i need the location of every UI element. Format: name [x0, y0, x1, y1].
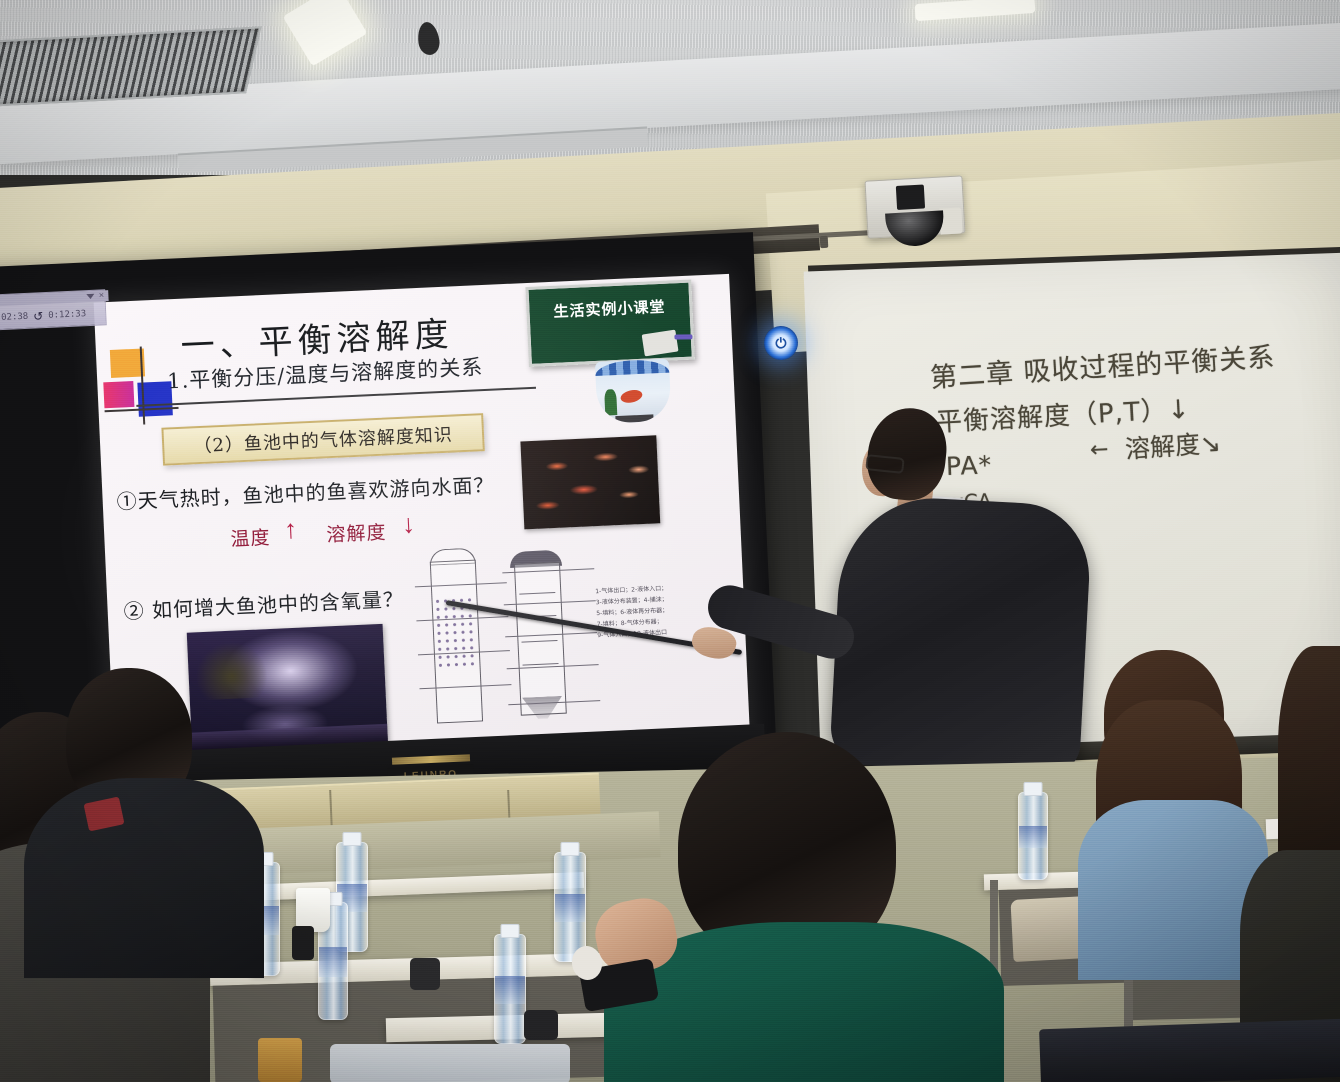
plastic-bag [330, 1044, 570, 1082]
laptop-lid[interactable] [1039, 1019, 1340, 1082]
whiteboard-line-3: PA* [945, 450, 992, 481]
koi-fish-pond-photo [520, 435, 660, 529]
camera-lens-icon [896, 184, 925, 210]
chevron-down-icon[interactable] [86, 294, 94, 299]
arrow-up-icon: ↑ [284, 516, 298, 543]
pond-fountain-aerator-photo [187, 624, 389, 759]
slide-question-1: ①天气热时，鱼池中的鱼喜欢游向水面？ [116, 469, 495, 515]
water-bottle [494, 934, 526, 1044]
whiteboard-arrow: ← [1089, 437, 1109, 463]
dark-object [292, 926, 314, 960]
player-controls: 0:02:38 ↺ 0:12:33 [0, 303, 109, 328]
keyword-temperature: 温度 [230, 523, 271, 552]
water-bottle [554, 852, 586, 962]
blackboard-book-icon [642, 330, 679, 357]
fishbowl-photo [595, 359, 672, 424]
life-example-banner: 生活实例小课堂 [525, 280, 694, 367]
thermos-flask [258, 1038, 302, 1082]
rewind-icon[interactable]: ↺ [33, 309, 44, 323]
classroom-photo: 第二章 吸收过程的平衡关系 平衡溶解度（P,T）↓ PA* xCA ← 溶解度↘… [0, 0, 1340, 1082]
rail-mount [820, 236, 829, 248]
slide-question-2: ② 如何增大鱼池中的含氧量？ [123, 583, 404, 625]
presentation-slide: 一、平衡溶解度 1.平衡分压/温度与溶解度的关系 生活实例小课堂 （2）鱼池中的… [94, 274, 751, 772]
player-remaining-time: 0:12:33 [48, 309, 86, 321]
player-elapsed-time: 0:02:38 [0, 312, 28, 324]
close-icon[interactable]: ✕ [98, 292, 104, 299]
keyword-solubility: 溶解度 [326, 518, 387, 548]
dark-object [524, 1010, 558, 1040]
whiteboard-line-5: 溶解度↘ [1124, 423, 1222, 466]
arrow-down-icon: ↓ [401, 510, 415, 537]
highlight-box: （2）鱼池中的气体溶解度知识 [161, 413, 484, 466]
absorption-tower-schematic: 1-气体出口；2-液体入口； 3-液体分布装置；4-捕沫； 5-填料；6-液体再… [405, 530, 704, 739]
life-example-banner-label: 生活实例小课堂 [537, 295, 682, 323]
blue-circle-power-logo[interactable]: ⏻ [763, 325, 799, 361]
instructor-coat [829, 494, 1093, 777]
media-player-overlay[interactable]: ✕ 0:02:38 ↺ 0:12:33 [0, 289, 107, 330]
water-bottle [1018, 792, 1048, 880]
dark-object [410, 958, 440, 990]
student-body [24, 778, 264, 978]
